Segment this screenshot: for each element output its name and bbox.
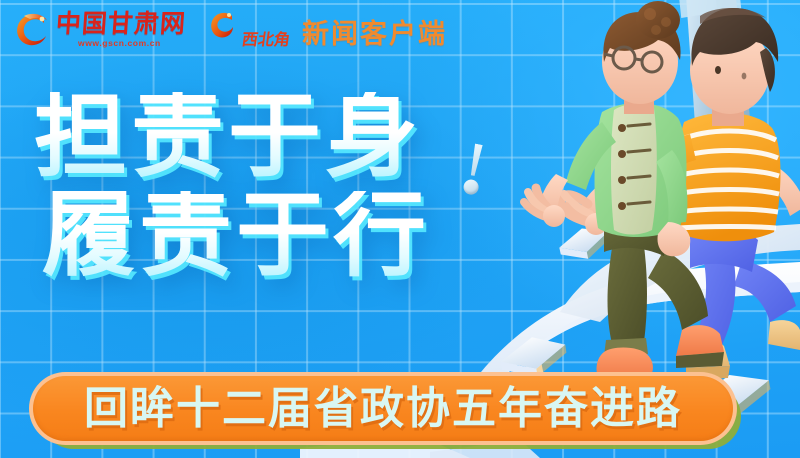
- logo-gscn[interactable]: 中国甘肃网 www.gscn.com.cn: [14, 10, 186, 48]
- xibeijiao-swoosh-mark: [208, 9, 238, 49]
- logo-xibeijiao[interactable]: 西北角 新闻客户端: [208, 9, 447, 49]
- gscn-swoosh-mark: [14, 10, 50, 48]
- raised-hand: [560, 194, 607, 235]
- bottom-banner-text: 回眸十二届省政协五年奋进路: [84, 387, 682, 431]
- pill-body: 回眸十二届省政协五年奋进路: [33, 376, 733, 441]
- exclamation-bar: [467, 143, 485, 177]
- shirt-stripes: [677, 131, 779, 228]
- open-book: [556, 223, 613, 264]
- paper-ribbon-upper: [560, 224, 800, 322]
- promo-banner: 中国甘肃网 www.gscn.com.cn: [0, 0, 800, 458]
- xibeijiao-title: 西北角: [241, 32, 291, 48]
- main-title: 担责于身 履责于行: [34, 92, 430, 281]
- vest-buttons: [618, 124, 626, 210]
- title-line-1: 担责于身: [34, 92, 430, 181]
- character-green-shirt: [524, 1, 724, 386]
- gscn-title: 中国甘肃网: [55, 11, 187, 36]
- bottom-banner: 回眸十二届省政协五年奋进路: [33, 376, 733, 441]
- character-orange-striped-shirt: [560, 8, 800, 380]
- header-logo-bar: 中国甘肃网 www.gscn.com.cn: [0, 0, 800, 58]
- news-client-label: 新闻客户端: [302, 21, 447, 48]
- waving-hand: [524, 188, 565, 227]
- title-line-2: 履责于行: [42, 191, 430, 280]
- exclamation-mark-decoration: [463, 143, 486, 196]
- gscn-url: www.gscn.com.cn: [78, 39, 186, 48]
- exclamation-dot: [462, 178, 480, 196]
